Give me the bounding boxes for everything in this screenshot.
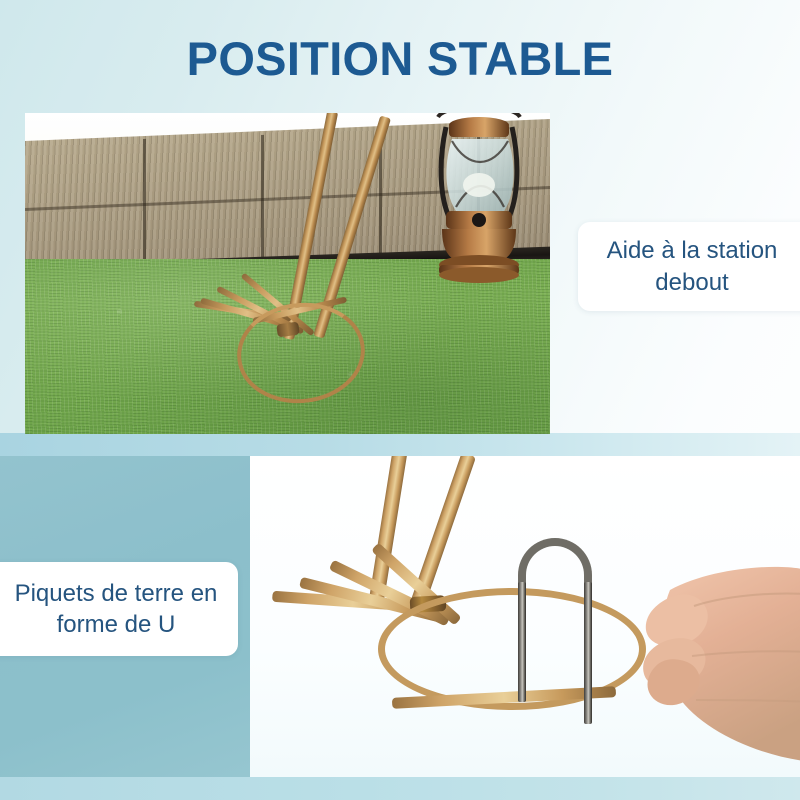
page-title: POSITION STABLE — [0, 34, 800, 83]
deck-tile-seam — [143, 139, 146, 275]
callout-aide-station-debout: Aide à la station debout — [578, 222, 800, 311]
product-feature-slide: POSITION STABLE — [0, 0, 800, 800]
mid-accent-band — [0, 433, 800, 456]
oil-lantern-icon — [416, 113, 544, 287]
metal-u-stake-leg — [518, 582, 526, 702]
product-photo-bottom — [250, 456, 800, 777]
callout-right-text: Aide à la station debout — [592, 235, 792, 297]
hand — [574, 536, 800, 771]
deck-tile-seam — [261, 135, 264, 273]
product-photo-top — [25, 113, 550, 434]
callout-left-text: Piquets de terre en forme de U — [8, 578, 224, 640]
bottom-accent-strip — [0, 777, 800, 800]
callout-piquets-de-terre: Piquets de terre en forme de U — [0, 562, 238, 656]
